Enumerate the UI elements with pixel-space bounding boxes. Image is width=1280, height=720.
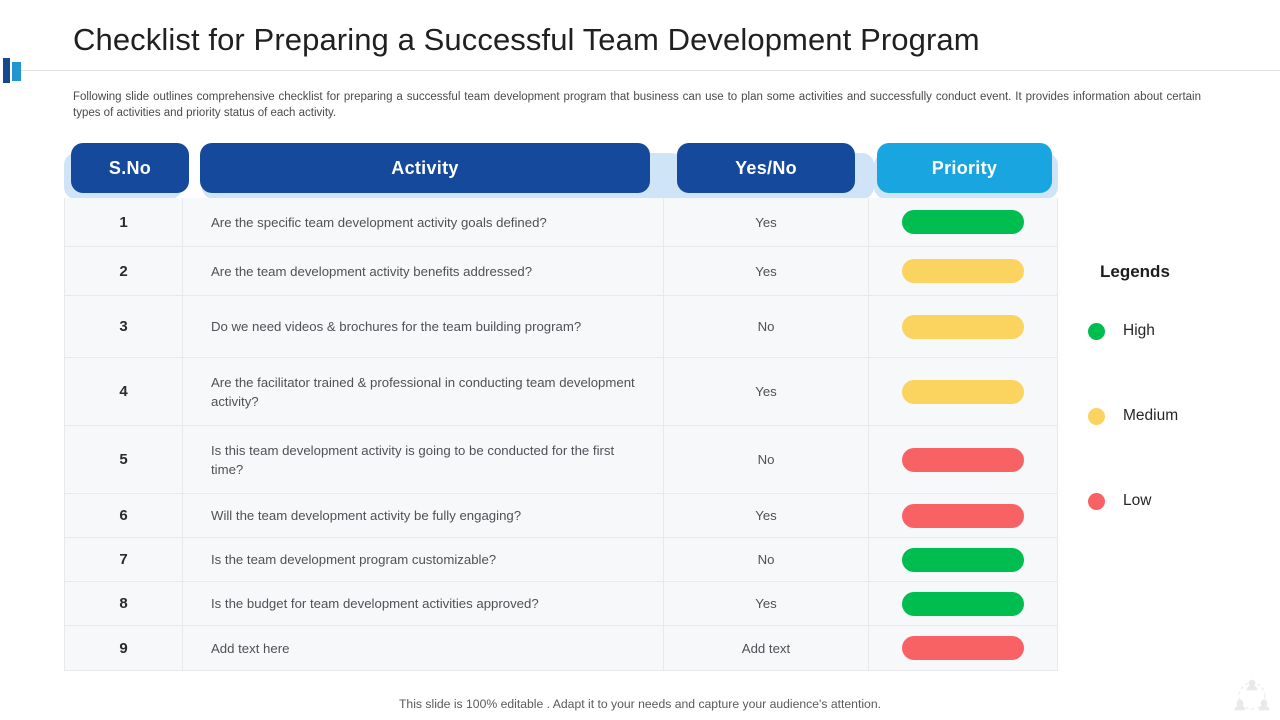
cell-yesno: Yes bbox=[664, 494, 869, 537]
slide-root: Checklist for Preparing a Successful Tea… bbox=[0, 0, 1280, 720]
header-cell-sno[interactable]: S.No bbox=[71, 143, 189, 193]
cell-priority bbox=[869, 538, 1057, 581]
cell-serial-number: 1 bbox=[65, 198, 183, 246]
priority-bar-medium bbox=[902, 315, 1024, 339]
legend-title: Legends bbox=[1100, 262, 1268, 282]
priority-bar-medium bbox=[902, 259, 1024, 283]
header-cell-activity[interactable]: Activity bbox=[200, 143, 650, 193]
cell-yesno: No bbox=[664, 426, 869, 493]
cell-priority bbox=[869, 626, 1057, 670]
title-divider bbox=[0, 56, 1280, 84]
priority-bar-high bbox=[902, 548, 1024, 572]
cell-yesno: No bbox=[664, 538, 869, 581]
cell-activity: Is the budget for team development activ… bbox=[183, 582, 664, 625]
header-cell-priority[interactable]: Priority bbox=[877, 143, 1052, 193]
table-row[interactable]: 4 Are the facilitator trained & professi… bbox=[65, 358, 1057, 426]
checklist-table: 1 Are the specific team development acti… bbox=[64, 198, 1058, 671]
table-row[interactable]: 3 Do we need videos & brochures for the … bbox=[65, 296, 1057, 358]
priority-bar-high bbox=[902, 592, 1024, 616]
cell-serial-number: 4 bbox=[65, 358, 183, 425]
team-network-icon bbox=[1232, 676, 1272, 719]
cell-priority bbox=[869, 494, 1057, 537]
cell-activity: Add text here bbox=[183, 626, 664, 670]
table-row[interactable]: 5 Is this team development activity is g… bbox=[65, 426, 1057, 494]
page-title: Checklist for Preparing a Successful Tea… bbox=[73, 22, 980, 58]
accent-bar-light-icon bbox=[12, 62, 21, 81]
legend-label-medium: Medium bbox=[1123, 407, 1178, 425]
priority-bar-low bbox=[902, 504, 1024, 528]
priority-bar-high bbox=[902, 210, 1024, 234]
legend-panel: Legends High Medium Low bbox=[1088, 262, 1268, 577]
cell-yesno: Add text bbox=[664, 626, 869, 670]
cell-yesno: No bbox=[664, 296, 869, 357]
slide-description: Following slide outlines comprehensive c… bbox=[73, 89, 1201, 121]
table-row[interactable]: 1 Are the specific team development acti… bbox=[65, 198, 1057, 247]
table-row[interactable]: 9 Add text here Add text bbox=[65, 626, 1057, 670]
legend-item-low[interactable]: Low bbox=[1088, 492, 1268, 510]
cell-priority bbox=[869, 198, 1057, 246]
table-header-row: S.No Activity Yes/No Priority bbox=[64, 143, 1058, 199]
cell-activity: Is this team development activity is goi… bbox=[183, 426, 664, 493]
cell-priority bbox=[869, 426, 1057, 493]
cell-priority bbox=[869, 582, 1057, 625]
horizontal-rule bbox=[21, 70, 1280, 71]
footer-note: This slide is 100% editable . Adapt it t… bbox=[0, 697, 1280, 711]
accent-bar-dark-icon bbox=[3, 58, 10, 83]
cell-yesno: Yes bbox=[664, 247, 869, 295]
legend-dot-high-icon bbox=[1088, 323, 1105, 340]
priority-bar-low bbox=[902, 636, 1024, 660]
cell-serial-number: 9 bbox=[65, 626, 183, 670]
legend-item-high[interactable]: High bbox=[1088, 322, 1268, 340]
cell-yesno: Yes bbox=[664, 198, 869, 246]
cell-serial-number: 6 bbox=[65, 494, 183, 537]
legend-dot-low-icon bbox=[1088, 493, 1105, 510]
legend-label-low: Low bbox=[1123, 492, 1151, 510]
cell-activity: Are the team development activity benefi… bbox=[183, 247, 664, 295]
cell-priority bbox=[869, 247, 1057, 295]
cell-activity: Will the team development activity be fu… bbox=[183, 494, 664, 537]
cell-activity: Are the specific team development activi… bbox=[183, 198, 664, 246]
table-row[interactable]: 6 Will the team development activity be … bbox=[65, 494, 1057, 538]
cell-yesno: Yes bbox=[664, 582, 869, 625]
cell-serial-number: 2 bbox=[65, 247, 183, 295]
cell-yesno: Yes bbox=[664, 358, 869, 425]
cell-priority bbox=[869, 358, 1057, 425]
cell-serial-number: 7 bbox=[65, 538, 183, 581]
cell-activity: Do we need videos & brochures for the te… bbox=[183, 296, 664, 357]
priority-bar-low bbox=[902, 448, 1024, 472]
cell-activity: Are the facilitator trained & profession… bbox=[183, 358, 664, 425]
cell-priority bbox=[869, 296, 1057, 357]
table-row[interactable]: 2 Are the team development activity bene… bbox=[65, 247, 1057, 296]
cell-serial-number: 3 bbox=[65, 296, 183, 357]
priority-bar-medium bbox=[902, 380, 1024, 404]
table-row[interactable]: 8 Is the budget for team development act… bbox=[65, 582, 1057, 626]
legend-label-high: High bbox=[1123, 322, 1155, 340]
cell-activity: Is the team development program customiz… bbox=[183, 538, 664, 581]
legend-item-medium[interactable]: Medium bbox=[1088, 407, 1268, 425]
header-cell-yesno[interactable]: Yes/No bbox=[677, 143, 855, 193]
cell-serial-number: 5 bbox=[65, 426, 183, 493]
legend-dot-medium-icon bbox=[1088, 408, 1105, 425]
table-row[interactable]: 7 Is the team development program custom… bbox=[65, 538, 1057, 582]
cell-serial-number: 8 bbox=[65, 582, 183, 625]
